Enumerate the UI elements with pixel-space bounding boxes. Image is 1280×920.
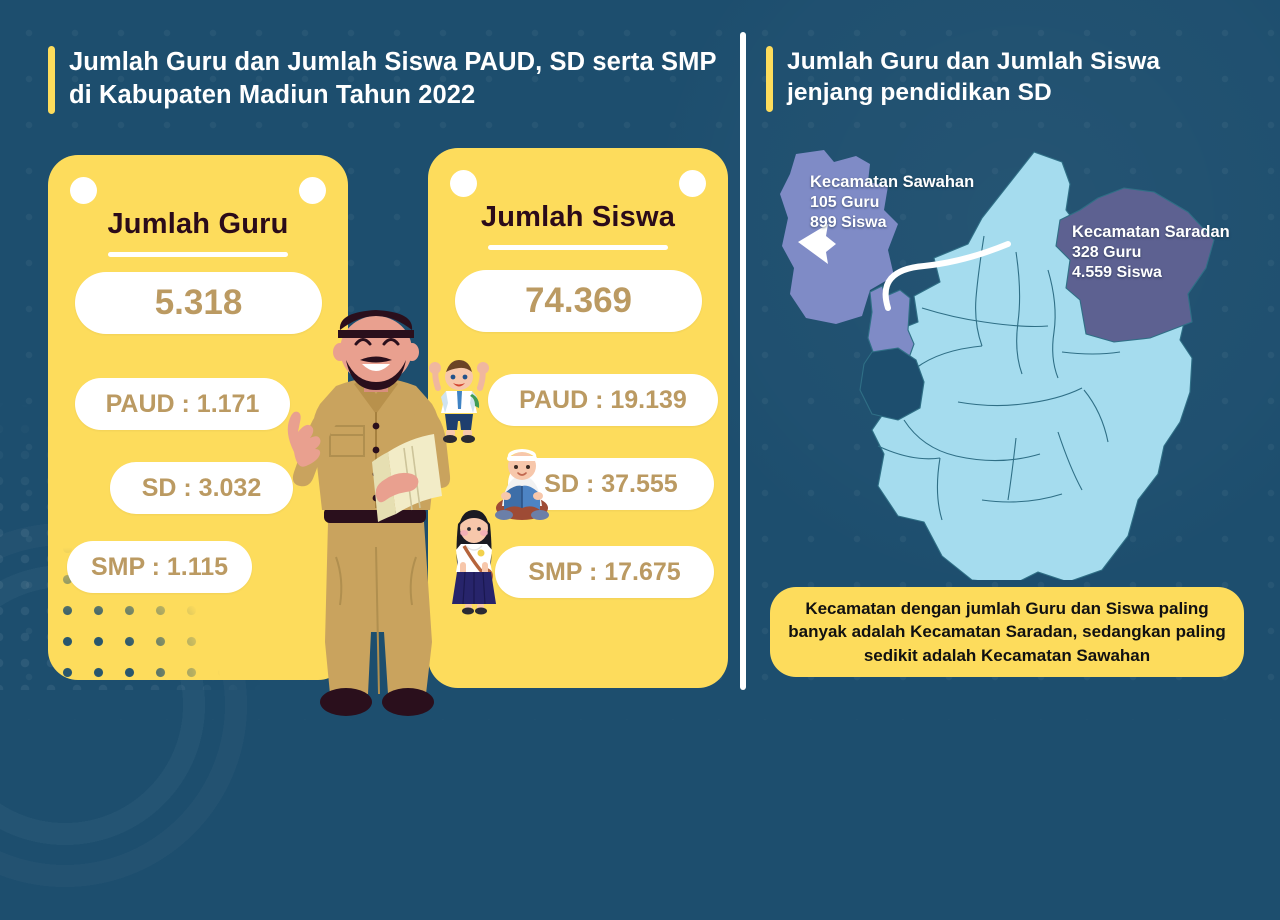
vertical-divider <box>740 32 746 690</box>
card-heading-underline <box>488 245 668 250</box>
map-label-saradan-guru: 328 Guru <box>1072 243 1230 263</box>
map-label-saradan-name: Kecamatan Saradan <box>1072 222 1230 243</box>
student-boy-illustration <box>428 358 490 446</box>
title-right-text: Jumlah Guru dan Jumlah Siswa jenjang pen… <box>787 46 1246 109</box>
map-label-sawahan-siswa: 899 Siswa <box>810 213 974 233</box>
card-punch-hole-left-icon <box>450 170 477 197</box>
title-accent-bar <box>766 46 773 112</box>
card-punch-hole-left-icon <box>70 177 97 204</box>
page-title-left: Jumlah Guru dan Jumlah Siswa PAUD, SD se… <box>48 46 728 114</box>
card-punch-hole-right-icon <box>679 170 706 197</box>
summary-callout: Kecamatan dengan jumlah Guru dan Siswa p… <box>770 587 1244 677</box>
card-siswa-row-smp: SMP : 17.675 <box>495 546 714 598</box>
card-guru-heading: Jumlah Guru <box>48 208 348 241</box>
title-left-text: Jumlah Guru dan Jumlah Siswa PAUD, SD se… <box>69 46 728 111</box>
card-siswa-heading: Jumlah Siswa <box>428 201 728 234</box>
summary-callout-text: Kecamatan dengan jumlah Guru dan Siswa p… <box>770 597 1244 667</box>
card-guru-row-smp: SMP : 1.115 <box>67 541 252 593</box>
map-region-enclave <box>860 348 924 420</box>
map-label-sawahan: Kecamatan Sawahan 105 Guru 899 Siswa <box>810 172 974 234</box>
card-heading-underline <box>108 252 288 257</box>
card-guru-row-sd: SD : 3.032 <box>110 462 293 514</box>
map-label-saradan: Kecamatan Saradan 328 Guru 4.559 Siswa <box>1072 222 1230 284</box>
map-label-sawahan-guru: 105 Guru <box>810 193 974 213</box>
page-title-right: Jumlah Guru dan Jumlah Siswa jenjang pen… <box>766 46 1246 112</box>
map-label-saradan-siswa: 4.559 Siswa <box>1072 263 1230 283</box>
title-accent-bar <box>48 46 55 114</box>
map-label-sawahan-name: Kecamatan Sawahan <box>810 172 974 193</box>
student-girl-illustration <box>446 506 502 616</box>
card-punch-hole-right-icon <box>299 177 326 204</box>
card-siswa-row-paud: PAUD : 19.139 <box>488 374 718 426</box>
card-siswa-total: 74.369 <box>455 270 702 332</box>
card-guru-row-paud: PAUD : 1.171 <box>75 378 290 430</box>
